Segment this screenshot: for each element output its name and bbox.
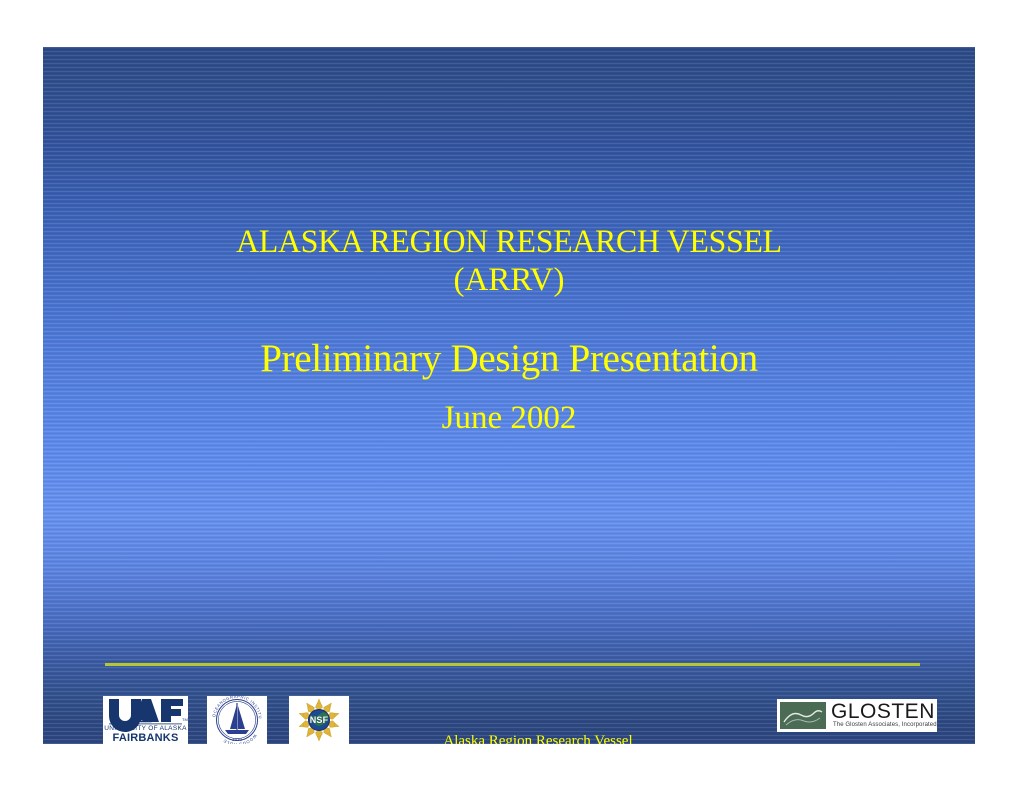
slide-date: June 2002: [43, 401, 975, 435]
title-block: ALASKA REGION RESEARCH VESSEL (ARRV) Pre…: [43, 225, 975, 435]
svg-text:TM: TM: [182, 717, 188, 722]
slide-title-line-1: ALASKA REGION RESEARCH VESSEL: [62, 225, 957, 259]
slide-page: ALASKA REGION RESEARCH VESSEL (ARRV) Pre…: [0, 0, 1020, 788]
footer-caption: Alaska Region Research Vessel: [373, 733, 703, 744]
glosten-wave-icon: [780, 702, 826, 729]
footer-divider: [105, 663, 920, 666]
uaf-logo-line-1: UNIVERSITY OF ALASKA: [103, 725, 188, 732]
presentation-slide: ALASKA REGION RESEARCH VESSEL (ARRV) Pre…: [43, 47, 975, 744]
glosten-logo: GLOSTEN The Glosten Associates, Incorpor…: [777, 699, 937, 732]
whoi-logo-year: 1930: [207, 737, 267, 742]
nsf-logo: NSF: [289, 696, 349, 744]
whoi-logo: OCEANOGRAPHIC INSTITUTION WOODS HOLE 193…: [207, 696, 267, 744]
glosten-tagline: The Glosten Associates, Incorporated: [833, 722, 937, 728]
nsf-logo-acronym: NSF: [289, 715, 349, 725]
slide-title-line-2: (ARRV): [43, 263, 975, 297]
uaf-logo: TM UNIVERSITY OF ALASKA FAIRBANKS: [103, 696, 188, 744]
slide-footer: TM UNIVERSITY OF ALASKA FAIRBANKS: [43, 671, 975, 744]
glosten-wordmark: GLOSTEN: [831, 700, 935, 724]
slide-subtitle: Preliminary Design Presentation: [43, 339, 975, 379]
uaf-logo-line-2: FAIRBANKS: [103, 732, 188, 744]
